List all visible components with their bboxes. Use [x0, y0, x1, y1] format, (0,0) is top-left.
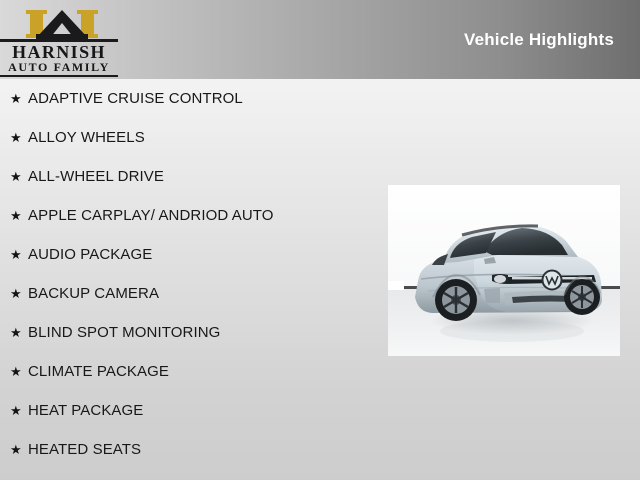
list-item: ★ HEAT PACKAGE [0, 391, 380, 430]
vehicle-highlights-page: HARNISH AUTO FAMILY People Matter Vehicl… [0, 0, 640, 480]
list-item: ★ AUDIO PACKAGE [0, 235, 380, 274]
list-item: ★ ADAPTIVE CRUISE CONTROL [0, 79, 380, 118]
star-bullet-icon: ★ [10, 248, 28, 261]
list-item: ★ APPLE CARPLAY/ ANDRIOD AUTO [0, 196, 380, 235]
logo-dealer-name: HARNISH [0, 43, 118, 61]
list-item: ★ BLIND SPOT MONITORING [0, 313, 380, 352]
star-bullet-icon: ★ [10, 209, 28, 222]
logo-dealer-subtitle: AUTO FAMILY [0, 61, 118, 74]
feature-label: BLIND SPOT MONITORING [28, 324, 220, 341]
list-item: ★ ALLOY WHEELS [0, 118, 380, 157]
harnish-arch-logo-icon [26, 10, 98, 40]
feature-label: HEATED SEATS [28, 441, 141, 458]
feature-label: BACKUP CAMERA [28, 285, 159, 302]
star-bullet-icon: ★ [10, 326, 28, 339]
star-bullet-icon: ★ [10, 170, 28, 183]
page-title: Vehicle Highlights [464, 30, 614, 50]
logo-divider-bottom [0, 75, 118, 77]
star-bullet-icon: ★ [10, 131, 28, 144]
list-item: ★ BACKUP CAMERA [0, 274, 380, 313]
list-item: ★ ALL-WHEEL DRIVE [0, 157, 380, 196]
list-item: ★ CLIMATE PACKAGE [0, 352, 380, 391]
star-bullet-icon: ★ [10, 287, 28, 300]
star-bullet-icon: ★ [10, 404, 28, 417]
page-header: HARNISH AUTO FAMILY People Matter Vehicl… [0, 0, 640, 79]
star-bullet-icon: ★ [10, 443, 28, 456]
star-bullet-icon: ★ [10, 365, 28, 378]
feature-label: ALLOY WHEELS [28, 129, 145, 146]
logo-wordmark: HARNISH AUTO FAMILY People Matter [0, 39, 118, 79]
list-item: ★ HEATED SEATS [0, 430, 380, 469]
star-bullet-icon: ★ [10, 92, 28, 105]
vehicle-highlights-list: ★ ADAPTIVE CRUISE CONTROL ★ ALLOY WHEELS… [0, 79, 380, 469]
vehicle-photo [388, 185, 620, 356]
feature-label: HEAT PACKAGE [28, 402, 143, 419]
feature-label: CLIMATE PACKAGE [28, 363, 169, 380]
feature-label: ADAPTIVE CRUISE CONTROL [28, 90, 243, 107]
feature-label: ALL-WHEEL DRIVE [28, 168, 164, 185]
feature-label: AUDIO PACKAGE [28, 246, 152, 263]
dealer-logo: HARNISH AUTO FAMILY People Matter [0, 8, 125, 76]
feature-label: APPLE CARPLAY/ ANDRIOD AUTO [28, 207, 274, 224]
